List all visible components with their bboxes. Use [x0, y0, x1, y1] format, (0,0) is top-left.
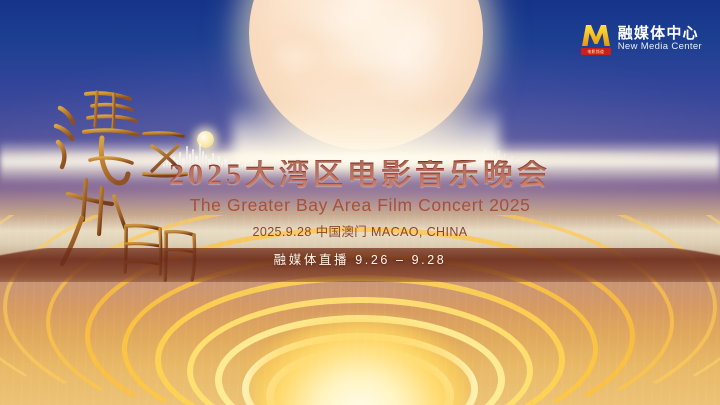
logo-name-cn: 融媒体中心: [618, 26, 702, 42]
logo-badge-film-channel: 电影频道: [581, 48, 611, 55]
m-logo-icon: 电影频道: [581, 24, 611, 54]
page-subtitle-english: The Greater Bay Area Film Concert 2025: [0, 197, 720, 215]
page-title: 2025大湾区电影音乐晚会: [0, 160, 720, 190]
golden-arc-rings: [0, 215, 720, 405]
broadcast-banner-text: 融媒体直播 9.26 – 9.28: [0, 254, 720, 267]
new-media-center-logo: 电影频道 融媒体中心 New Media Center: [581, 24, 702, 54]
poster-key-visual: 2025大湾区电影音乐晚会 The Greater Bay Area Film …: [0, 0, 720, 405]
logo-name-en: New Media Center: [618, 42, 702, 52]
logo-text-block: 融媒体中心 New Media Center: [618, 26, 702, 53]
title-block: 2025大湾区电影音乐晚会 The Greater Bay Area Film …: [0, 160, 720, 238]
date-location-line: 2025.9.28 中国澳门 MACAO, CHINA: [0, 226, 720, 239]
ring-streaks: [0, 215, 720, 405]
